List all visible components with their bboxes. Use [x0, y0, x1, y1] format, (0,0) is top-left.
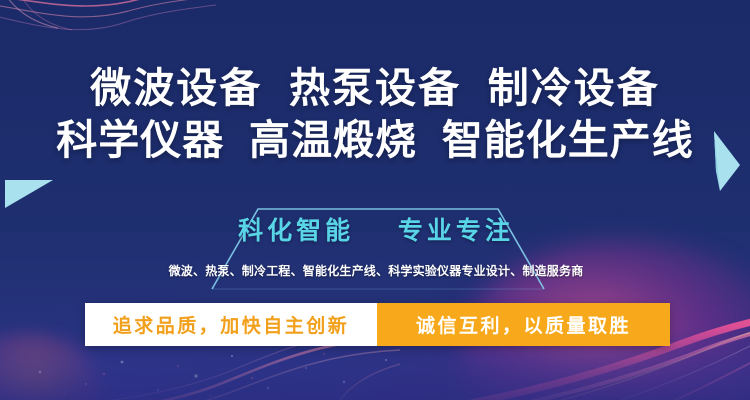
middle-slogan: 科化智能 专业专注: [166, 216, 586, 246]
middle-subtitle: 微波、热泵、制冷工程、智能化生产线、科学实验仪器专业设计、制造服务商: [150, 263, 602, 279]
headline-line-1: 微波设备 热泵设备 制冷设备: [0, 62, 750, 114]
slogan-bar-integrity: 诚信互利，以质量取胜: [377, 303, 670, 346]
slogan-bar-quality: 追求品质，加快自主创新: [85, 303, 377, 346]
page-title: 微波设备 热泵设备 制冷设备 科学仪器 高温煅烧 智能化生产线: [0, 62, 750, 166]
slogan-bar-group: 追求品质，加快自主创新 诚信互利，以质量取胜: [85, 303, 670, 346]
arrow-left-icon: [5, 180, 53, 208]
headline-line-2: 科学仪器 高温煅烧 智能化生产线: [0, 114, 750, 166]
promo-banner: 微波设备 热泵设备 制冷设备 科学仪器 高温煅烧 智能化生产线 科化智能 专业专…: [0, 0, 750, 400]
